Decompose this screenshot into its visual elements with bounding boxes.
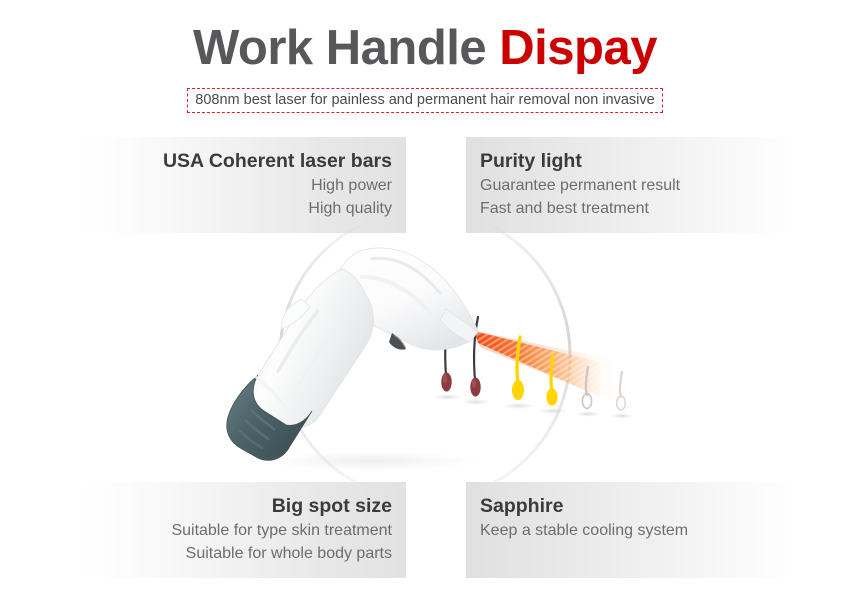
feature-panel-title: Purity light [480, 148, 784, 174]
handpiece-grip [253, 269, 373, 428]
feature-panel-line: Suitable for type skin treatment [94, 519, 392, 542]
feature-panel-line: High quality [94, 197, 392, 220]
feature-panel-sapphire: Sapphire Keep a stable cooling system [466, 482, 798, 578]
product-illustration [0, 225, 850, 485]
page-subtitle: 808nm best laser for painless and perman… [187, 88, 662, 113]
feature-panel-line: Keep a stable cooling system [480, 519, 784, 542]
feature-panel-title: USA Coherent laser bars [94, 148, 392, 174]
page-subtitle-container: 808nm best laser for painless and perman… [0, 88, 850, 113]
feature-panel-title: Big spot size [94, 493, 392, 519]
feature-panel-line: High power [94, 174, 392, 197]
hair-follicle-faded [617, 372, 626, 410]
laser-handpiece-device [227, 248, 492, 472]
feature-panel-line: Fast and best treatment [480, 197, 784, 220]
page-title-main: Work Handle [193, 21, 499, 75]
feature-panel-big-spot-size: Big spot size Suitable for type skin tre… [80, 482, 406, 578]
page-title: Work Handle Dispay [0, 18, 850, 78]
feature-panel-usa-coherent-laser-bars: USA Coherent laser bars High power High … [80, 137, 406, 233]
feature-panel-title: Sapphire [480, 493, 784, 519]
feature-panel-purity-light: Purity light Guarantee permanent result … [466, 137, 798, 233]
handpiece-shadow [252, 450, 492, 472]
page-header: Work Handle Dispay 808nm best laser for … [0, 0, 850, 125]
laser-beam [474, 331, 612, 401]
feature-panel-line: Guarantee permanent result [480, 174, 784, 197]
feature-panel-line: Suitable for whole body parts [94, 542, 392, 565]
page-title-accent: Dispay [499, 21, 657, 75]
